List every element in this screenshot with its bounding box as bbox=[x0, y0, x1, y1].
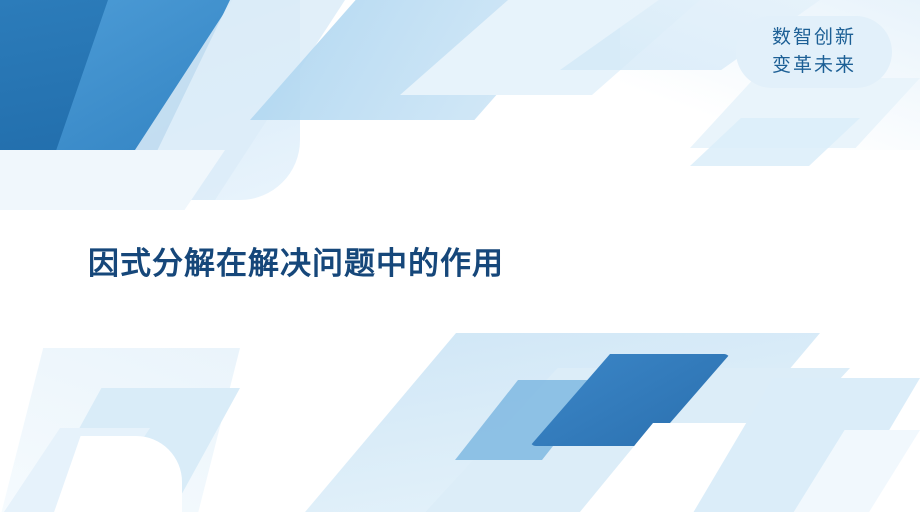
slide-canvas: 数智创新 变革未来 因式分解在解决问题中的作用 bbox=[0, 0, 920, 518]
decoration-bottom-edge bbox=[0, 512, 920, 518]
brand-badge: 数智创新 变革未来 bbox=[736, 16, 892, 88]
brand-badge-line-1: 数智创新 bbox=[772, 24, 856, 52]
brand-badge-line-2: 变革未来 bbox=[772, 52, 856, 80]
page-title: 因式分解在解决问题中的作用 bbox=[88, 238, 504, 283]
decoration-top-left-pale bbox=[0, 150, 225, 210]
